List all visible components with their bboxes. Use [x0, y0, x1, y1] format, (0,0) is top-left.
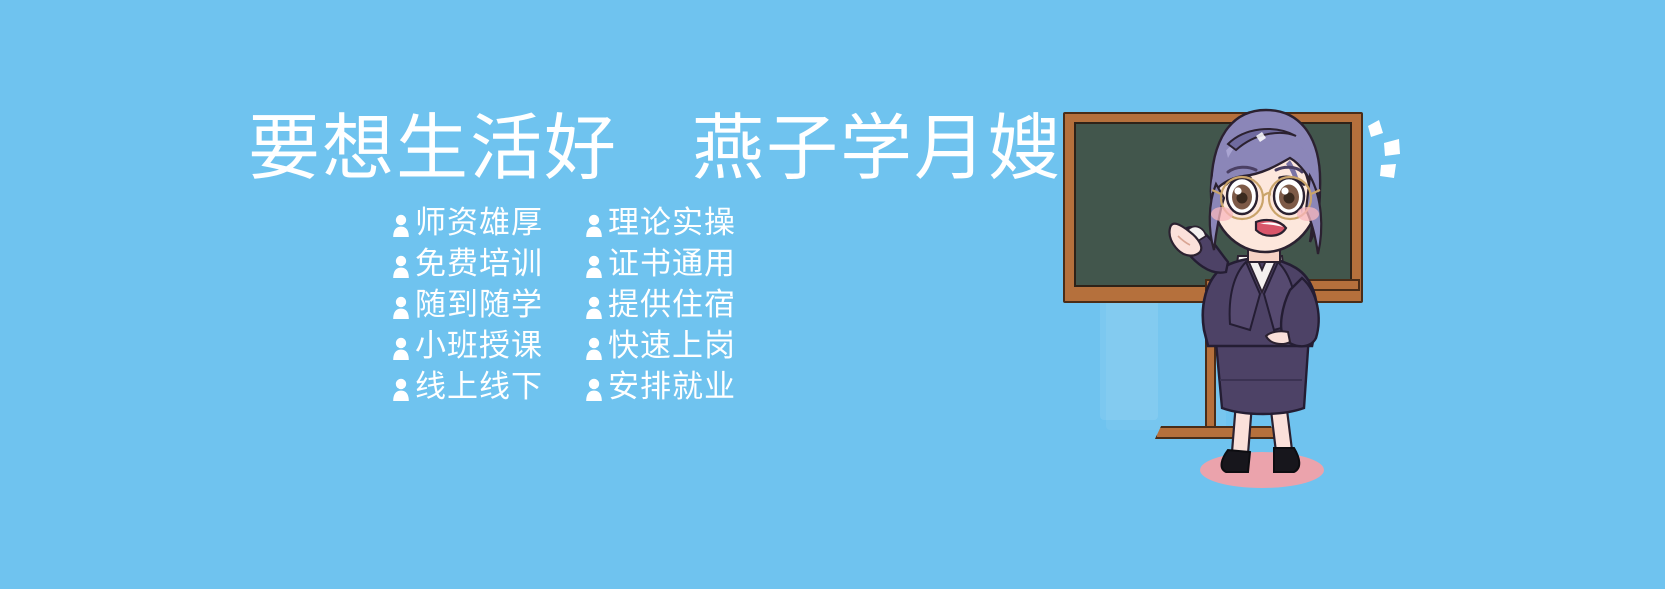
eye-glint-left	[1234, 187, 1241, 194]
shoe-left	[1222, 450, 1250, 472]
list-item-label: 理论实操	[608, 208, 736, 239]
list-item-label: 师资雄厚	[415, 208, 543, 239]
list-item: 线上线下	[392, 367, 543, 408]
list-item: 理论实操	[585, 203, 736, 244]
person-icon	[392, 212, 410, 238]
list-item: 师资雄厚	[392, 203, 543, 244]
blush-left	[1211, 207, 1233, 221]
list-item: 证书通用	[585, 244, 736, 285]
sparkle-icon	[1362, 110, 1422, 185]
person-icon	[585, 212, 603, 238]
floor-shadow	[1200, 452, 1324, 488]
list-item-label: 快速上岗	[608, 331, 736, 362]
feature-column-right: 理论实操 证书通用 提供住宿	[585, 203, 736, 408]
blush-right	[1297, 207, 1319, 221]
person-icon	[392, 335, 410, 361]
list-item-label: 小班授课	[415, 331, 543, 362]
person-icon	[585, 376, 603, 402]
person-icon	[392, 294, 410, 320]
list-item-label: 免费培训	[415, 249, 543, 280]
person-icon	[585, 294, 603, 320]
promo-banner: 要想生活好 燕子学月嫂 师资雄厚 免	[0, 0, 1665, 589]
list-item-label: 安排就业	[608, 372, 736, 403]
feature-list: 师资雄厚 免费培训 随到随学	[392, 203, 736, 408]
list-item-label: 随到随学	[415, 290, 543, 321]
person-icon	[585, 253, 603, 279]
list-item-label: 线上线下	[415, 372, 543, 403]
person-icon	[392, 253, 410, 279]
eye-glint-right	[1281, 187, 1288, 194]
list-item-label: 提供住宿	[608, 290, 736, 321]
person-icon	[392, 376, 410, 402]
list-item: 安排就业	[585, 367, 736, 408]
list-item: 小班授课	[392, 326, 543, 367]
list-item: 快速上岗	[585, 326, 736, 367]
list-item: 随到随学	[392, 285, 543, 326]
feature-column-left: 师资雄厚 免费培训 随到随学	[392, 203, 543, 408]
list-item: 提供住宿	[585, 285, 736, 326]
illustration	[980, 60, 1430, 500]
page-title: 要想生活好 燕子学月嫂	[248, 112, 1062, 184]
list-item: 免费培训	[392, 244, 543, 285]
list-item-label: 证书通用	[608, 249, 736, 280]
shoe-right	[1274, 448, 1299, 472]
teacher-character	[1170, 80, 1350, 500]
person-icon	[585, 335, 603, 361]
